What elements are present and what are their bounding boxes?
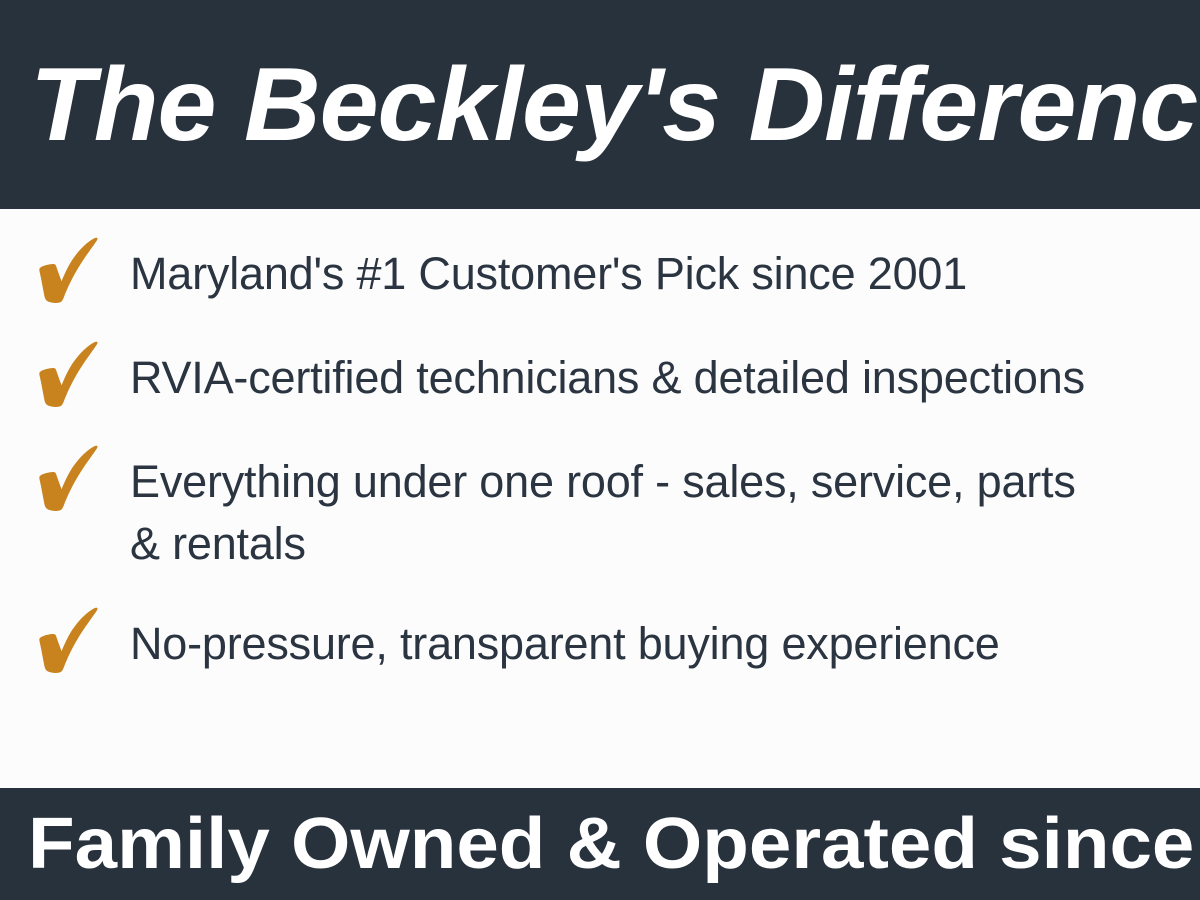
page-title: The Beckley's Difference... [30,53,1200,157]
list-item: No-pressure, transparent buying experien… [30,611,1170,679]
list-item-label: Maryland's #1 Customer's Pick since 2001 [130,241,967,305]
list-item: Everything under one roof - sales, servi… [30,449,1170,575]
header-bar: The Beckley's Difference... [0,0,1200,209]
list-item: Maryland's #1 Customer's Pick since 2001 [30,241,1170,309]
list-item-label: RVIA-certified technicians & detailed in… [130,345,1085,409]
list-item-label: No-pressure, transparent buying experien… [130,611,1000,675]
checkmark-icon [30,237,108,309]
checkmark-icon [30,607,108,679]
checkmark-icon [30,445,108,517]
list-item-label: Everything under one roof - sales, servi… [130,449,1115,575]
benefits-list: Maryland's #1 Customer's Pick since 2001… [30,241,1170,679]
benefits-section: Maryland's #1 Customer's Pick since 2001… [0,209,1200,788]
footer-bar: Family Owned & Operated since 1980 [0,788,1200,900]
infographic-card: The Beckley's Difference... Maryland's #… [0,0,1200,900]
footer-tagline: Family Owned & Operated since 1980 [28,808,1200,880]
checkmark-icon [30,341,108,413]
list-item: RVIA-certified technicians & detailed in… [30,345,1170,413]
